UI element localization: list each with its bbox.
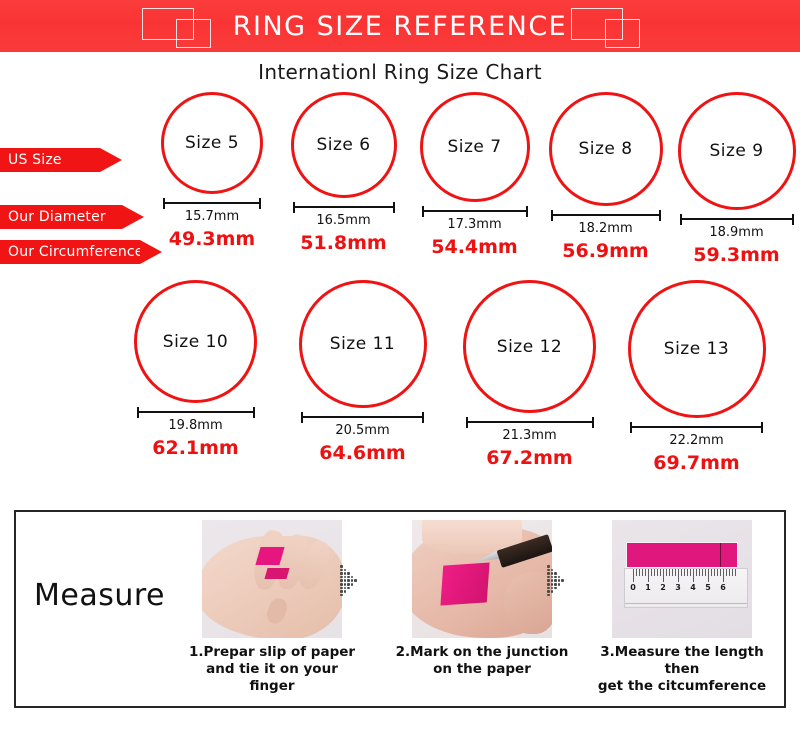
diameter-dimension-line <box>551 210 661 220</box>
thumb-shape <box>504 572 552 634</box>
dimension-end-cap-left <box>630 422 632 433</box>
decoration-rect-small-icon <box>176 19 211 48</box>
ring-circle: Size 7 <box>420 92 530 202</box>
dimension-bar <box>137 411 255 413</box>
ruler-tick-minor <box>672 569 673 576</box>
ruler-tick-minor <box>735 569 736 576</box>
dimension-bar <box>301 416 424 418</box>
arrow-dot <box>351 579 354 582</box>
ruler-tick-minor <box>636 569 637 576</box>
label-our-diameter-body: Our Diameter <box>0 205 122 229</box>
ring-diameter-value: 18.2mm <box>578 221 632 236</box>
arrow-dot <box>347 583 350 586</box>
arrow-dot <box>351 576 354 579</box>
dimension-end-cap-right <box>253 407 255 418</box>
arrow-dot <box>551 576 554 579</box>
ring-size-cell: Size 9 18.9mm 59.3mm <box>671 92 800 266</box>
ruler-tick-minor <box>705 569 706 576</box>
ruler-tick-minor <box>645 569 646 576</box>
ring-size-cell: Size 10 19.8mm 62.1mm <box>112 280 279 474</box>
step-2-photo-marking-paper <box>412 520 552 638</box>
ruler-tick-minor <box>669 569 670 576</box>
ring-diameter-value: 19.8mm <box>168 418 222 433</box>
ring-circle: Size 10 <box>134 280 257 403</box>
dimension-end-cap-left <box>466 417 468 428</box>
diameter-dimension-line <box>137 407 255 417</box>
label-our-diameter-text: Our Diameter <box>8 209 106 225</box>
arrow-dot <box>547 565 550 568</box>
ruler-tick-minor <box>720 569 721 576</box>
ring-diameter-value: 18.9mm <box>709 225 763 240</box>
dimension-end-cap-right <box>259 198 261 209</box>
ruler-tick-major <box>663 569 664 582</box>
arrow-dot <box>547 572 550 575</box>
arrow-dot <box>347 579 350 582</box>
ruler-tick-minor <box>702 569 703 576</box>
arrow-dot <box>344 590 347 593</box>
label-our-circumference-text: Our Circumference <box>8 244 144 260</box>
arrow-dot <box>340 594 343 597</box>
ring-size-label: Size 11 <box>330 334 395 354</box>
dotted-arrow-right-icon <box>340 565 366 599</box>
diameter-dimension-line <box>422 206 528 216</box>
arrow-dot <box>547 594 550 597</box>
arrow-dot <box>558 583 561 586</box>
ring-size-label: Size 7 <box>447 137 501 157</box>
arrow-dot <box>344 583 347 586</box>
ruler-tick-minor <box>666 569 667 576</box>
ruler-tick-minor <box>687 569 688 576</box>
diameter-dimension-line <box>301 412 424 422</box>
ruler-number: 2 <box>660 583 666 592</box>
ring-size-row-1: Size 5 15.7mm 49.3mm Size 6 16.5mm 51.8m… <box>146 92 800 266</box>
arrow-dot <box>554 579 557 582</box>
diameter-dimension-line <box>630 422 763 432</box>
arrow-dot <box>344 576 347 579</box>
ruler-tick-minor <box>651 569 652 576</box>
ruler-tick-minor <box>717 569 718 576</box>
dimension-end-cap-right <box>526 206 528 217</box>
label-our-circumference-body: Our Circumference <box>0 240 140 264</box>
ruler-number: 6 <box>720 583 726 592</box>
arrow-dot <box>554 576 557 579</box>
arrow-dot <box>340 572 343 575</box>
diameter-dimension-line <box>680 214 794 224</box>
ring-circle: Size 12 <box>463 280 596 413</box>
ring-circumference-value: 64.6mm <box>319 442 405 464</box>
ring-circle: Size 11 <box>299 280 427 408</box>
diameter-dimension-line <box>293 202 395 212</box>
arrow-dot <box>551 590 554 593</box>
ring-diameter-value: 22.2mm <box>669 433 723 448</box>
ruler: 0123456 <box>624 568 748 608</box>
measure-step-1: 1.Prepar slip of paper and tie it on you… <box>182 520 362 695</box>
ring-circumference-value: 51.8mm <box>300 232 386 254</box>
ring-size-label: Size 12 <box>497 337 562 357</box>
ruler-tick-minor <box>711 569 712 576</box>
measure-step-2: 2.Mark on the junction on the paper <box>392 520 572 678</box>
ring-size-label: Size 6 <box>316 135 370 155</box>
ruler-number: 5 <box>705 583 711 592</box>
ruler-tick-minor <box>657 569 658 576</box>
dimension-end-cap-left <box>293 202 295 213</box>
dimension-bar <box>630 426 763 428</box>
arrow-dot <box>340 579 343 582</box>
label-our-circumference: Our Circumference <box>0 240 162 264</box>
dimension-end-cap-left <box>137 407 139 418</box>
ring-diameter-value: 16.5mm <box>316 213 370 228</box>
step-3-caption: 3.Measure the length then get the citcum… <box>592 644 772 695</box>
arrow-dot <box>340 565 343 568</box>
ring-size-label: Size 8 <box>578 139 632 159</box>
arrow-right-icon <box>100 148 122 172</box>
arrow-dot <box>344 569 347 572</box>
banner-decoration-right <box>563 6 663 48</box>
step-1-photo-hand-with-paper <box>202 520 342 638</box>
ruler-tick-minor <box>696 569 697 576</box>
ring-size-cell: Size 5 15.7mm 49.3mm <box>146 92 278 266</box>
arrow-dot <box>340 583 343 586</box>
arrow-dot <box>547 587 550 590</box>
dimension-bar <box>680 218 794 220</box>
diameter-dimension-line <box>163 198 261 208</box>
label-us-size-body: US Size <box>0 148 100 172</box>
arrow-dot <box>547 579 550 582</box>
ring-circle: Size 9 <box>678 92 796 210</box>
measure-step-3: 0123456 3.Measure the length then get th… <box>592 520 772 695</box>
label-us-size-text: US Size <box>8 152 62 168</box>
arrow-dot <box>551 572 554 575</box>
ruler-tick-major <box>648 569 649 582</box>
ruler-tick-minor <box>642 569 643 576</box>
arrow-dot <box>351 583 354 586</box>
diameter-dimension-line <box>466 417 594 427</box>
ring-size-label: Size 5 <box>185 133 239 153</box>
dimension-end-cap-left <box>680 214 682 225</box>
label-us-size: US Size <box>0 148 122 172</box>
arrow-dot <box>344 587 347 590</box>
step-3-photo-ruler-measurement: 0123456 <box>612 520 752 638</box>
arrow-dot <box>554 583 557 586</box>
arrow-dot <box>344 579 347 582</box>
ruler-number: 3 <box>675 583 681 592</box>
dimension-bar <box>551 214 661 216</box>
arrow-dot <box>547 576 550 579</box>
ring-diameter-value: 17.3mm <box>447 217 501 232</box>
dimension-bar <box>466 421 594 423</box>
ruler-tick-major <box>678 569 679 582</box>
dimension-end-cap-right <box>659 210 661 221</box>
arrow-dot <box>551 579 554 582</box>
ruler-ticks <box>625 569 747 582</box>
paper-strip-end <box>264 568 289 579</box>
arrow-dot <box>551 587 554 590</box>
ruler-number: 1 <box>645 583 651 592</box>
dimension-end-cap-left <box>301 412 303 423</box>
measure-heading: Measure <box>34 578 165 613</box>
ring-diameter-value: 15.7mm <box>185 209 239 224</box>
dotted-arrow-right-icon <box>547 565 573 599</box>
ruler-tick-minor <box>660 569 661 576</box>
banner-decoration-left <box>140 6 240 48</box>
ruler-tick-minor <box>732 569 733 576</box>
paper-strip <box>626 542 738 568</box>
arrow-dot <box>554 572 557 575</box>
dimension-bar <box>163 202 261 204</box>
dimension-end-cap-left <box>163 198 165 209</box>
arrow-dot <box>551 583 554 586</box>
ruler-tick-major <box>633 569 634 582</box>
dimension-end-cap-left <box>422 206 424 217</box>
arrow-dot <box>347 587 350 590</box>
arrow-dot <box>354 579 357 582</box>
ruler-tick-minor <box>639 569 640 576</box>
ring-diameter-value: 20.5mm <box>335 423 389 438</box>
step-2-caption: 2.Mark on the junction on the paper <box>396 644 569 678</box>
ring-size-label: Size 9 <box>709 141 763 161</box>
ring-circle: Size 8 <box>549 92 663 206</box>
arrow-dot <box>344 572 347 575</box>
ruler-tick-major <box>723 569 724 582</box>
ring-circumference-value: 69.7mm <box>653 452 739 474</box>
arrow-dot <box>554 587 557 590</box>
arrow-dot <box>340 576 343 579</box>
ruler-numbers: 0123456 <box>625 583 747 597</box>
arrow-dot <box>340 587 343 590</box>
arrow-dot <box>547 590 550 593</box>
ring-diameter-value: 21.3mm <box>502 428 556 443</box>
ruler-tick-major <box>708 569 709 582</box>
arrow-right-icon <box>122 205 144 229</box>
ring-size-cell: Size 7 17.3mm 54.4mm <box>409 92 540 266</box>
dimension-bar <box>293 206 395 208</box>
ruler-tick-minor <box>654 569 655 576</box>
arrow-dot <box>547 569 550 572</box>
dimension-end-cap-right <box>393 202 395 213</box>
ring-size-cell: Size 11 20.5mm 64.6mm <box>279 280 446 474</box>
paper-strip <box>440 562 489 605</box>
ring-circle: Size 13 <box>628 280 766 418</box>
header-banner: RING SIZE REFERENCE <box>0 0 800 52</box>
ruler-tick-minor <box>684 569 685 576</box>
arrow-dot <box>347 576 350 579</box>
ruler-tick-major <box>693 569 694 582</box>
ring-circle: Size 6 <box>291 92 397 198</box>
ruler-tick-minor <box>726 569 727 576</box>
ruler-tick-minor <box>675 569 676 576</box>
ruler-tick-minor <box>681 569 682 576</box>
ring-size-cell: Size 12 21.3mm 67.2mm <box>446 280 613 474</box>
ruler-edge <box>625 603 747 605</box>
decoration-rect-small-icon <box>605 19 640 48</box>
ring-circumference-value: 49.3mm <box>169 228 255 250</box>
paper-mark-line <box>720 543 722 567</box>
dimension-end-cap-right <box>422 412 424 423</box>
ring-size-cell: Size 6 16.5mm 51.8mm <box>278 92 409 266</box>
ring-circumference-value: 59.3mm <box>693 244 779 266</box>
ring-size-label: Size 13 <box>664 339 729 359</box>
arrow-dot <box>340 590 343 593</box>
arrow-dot <box>547 583 550 586</box>
ring-circumference-value: 67.2mm <box>486 447 572 469</box>
arrow-dot <box>558 576 561 579</box>
ruler-tick-minor <box>729 569 730 576</box>
dimension-end-cap-left <box>551 210 553 221</box>
ring-size-cell: Size 13 22.2mm 69.7mm <box>613 280 780 474</box>
dimension-end-cap-right <box>792 214 794 225</box>
ring-size-label: Size 10 <box>163 332 228 352</box>
ruler-number: 0 <box>630 583 636 592</box>
step-1-caption: 1.Prepar slip of paper and tie it on you… <box>182 644 362 695</box>
arrow-dot <box>558 579 561 582</box>
ring-circumference-value: 62.1mm <box>152 437 238 459</box>
arrow-dot <box>551 569 554 572</box>
ring-size-row-2: Size 10 19.8mm 62.1mm Size 11 20.5mm 64.… <box>112 280 780 474</box>
ruler-tick-minor <box>714 569 715 576</box>
dimension-end-cap-right <box>761 422 763 433</box>
ruler-tick-minor <box>699 569 700 576</box>
ring-circumference-value: 56.9mm <box>562 240 648 262</box>
dimension-end-cap-right <box>592 417 594 428</box>
dimension-bar <box>422 210 528 212</box>
page-title: RING SIZE REFERENCE <box>233 11 568 42</box>
chart-subtitle: Internationl Ring Size Chart <box>0 60 800 84</box>
ruler-tick-minor <box>690 569 691 576</box>
ring-size-cell: Size 8 18.2mm 56.9mm <box>540 92 671 266</box>
ring-circumference-value: 54.4mm <box>431 236 517 258</box>
arrow-dot <box>561 579 564 582</box>
arrow-dot <box>340 569 343 572</box>
arrow-dot <box>347 572 350 575</box>
ring-circle: Size 5 <box>161 92 263 194</box>
label-our-diameter: Our Diameter <box>0 205 144 229</box>
ruler-number: 4 <box>690 583 696 592</box>
